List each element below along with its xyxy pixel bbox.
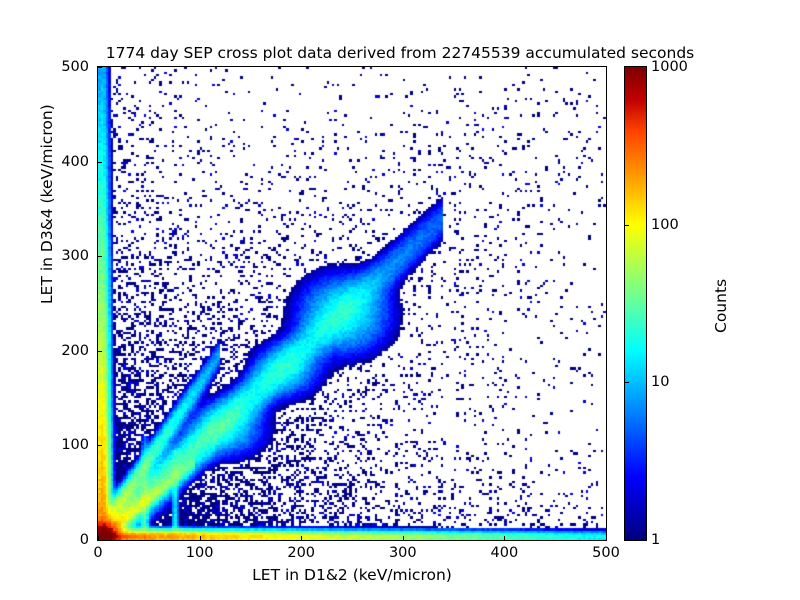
y-axis-tick-label: 100 — [45, 437, 89, 453]
y-axis-label: LET in D3&4 (keV/micron) — [38, 104, 56, 304]
colorbar-tick-label: 10 — [651, 374, 669, 390]
y-axis-tick-label: 0 — [45, 532, 89, 548]
x-axis-tick-label: 100 — [186, 545, 214, 561]
colorbar-tick-label: 1000 — [651, 59, 688, 75]
colorbar-tick-label: 100 — [651, 217, 679, 233]
colorbar-gradient — [625, 67, 646, 540]
y-axis-tick-mark — [98, 351, 102, 352]
x-axis-label: LET in D1&2 (keV/micron) — [97, 566, 607, 584]
x-axis-tick-mark — [301, 536, 302, 540]
colorbar-label: Counts — [712, 279, 730, 333]
y-axis-tick-mark — [98, 445, 102, 446]
x-axis-tick-label: 500 — [592, 545, 620, 561]
plot-axes[interactable] — [97, 66, 607, 541]
colorbar-tick-mark — [625, 382, 629, 383]
y-axis-tick-mark — [98, 540, 102, 541]
y-axis-tick-mark — [98, 67, 102, 68]
x-axis-tick-mark — [200, 536, 201, 540]
figure-canvas: 1774 day SEP cross plot data derived fro… — [0, 0, 800, 600]
y-axis-tick-mark — [98, 162, 102, 163]
y-axis-tick-label: 200 — [45, 343, 89, 359]
x-axis-tick-label: 300 — [389, 545, 417, 561]
y-axis-tick-label: 500 — [45, 59, 89, 75]
colorbar-tick-label: 1 — [651, 532, 660, 548]
density-heatmap — [98, 67, 606, 540]
x-axis-tick-label: 200 — [287, 545, 315, 561]
colorbar-tick-mark — [625, 225, 629, 226]
colorbar[interactable] — [624, 66, 647, 541]
x-axis-tick-label: 0 — [93, 545, 102, 561]
x-axis-tick-mark — [403, 536, 404, 540]
x-axis-tick-mark — [504, 536, 505, 540]
x-axis-tick-label: 400 — [491, 545, 519, 561]
x-axis-tick-mark — [606, 536, 607, 540]
y-axis-tick-mark — [98, 256, 102, 257]
